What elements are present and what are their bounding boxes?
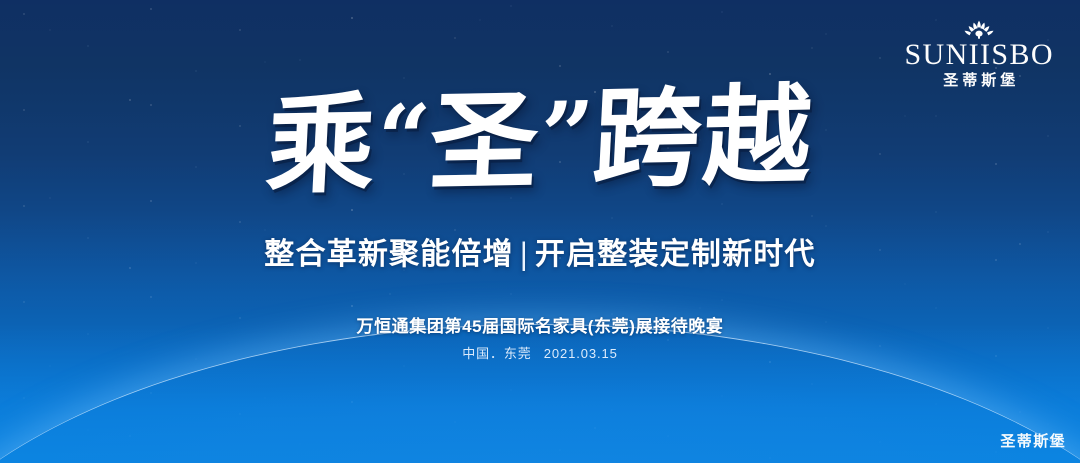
hero-subtitle: 整合革新聚能倍增|开启整装定制新时代: [0, 229, 1080, 273]
event-location: 中国．东莞: [462, 346, 532, 361]
hero-subtitle-left: 整合革新聚能倍增: [264, 238, 514, 271]
hero-subtitle-right: 开启整装定制新时代: [535, 238, 816, 271]
event-date: 2021.03.15: [544, 346, 618, 361]
hero-title-quote-open: “: [374, 84, 432, 193]
event-name: 万恒通集团第45届国际名家具(东莞)展接待晚宴: [0, 312, 1080, 337]
event-meta: 中国．东莞2021.03.15: [0, 343, 1080, 362]
brand-watermark: 圣蒂斯堡: [1000, 430, 1066, 451]
brand-watermark-text: 圣蒂斯堡: [1000, 433, 1066, 450]
event-banner: SUNIISBO 圣蒂斯堡 乘“圣”跨越 整合革新聚能倍增|开启整装定制新时代 …: [0, 0, 1080, 463]
hero-title: 乘“圣”跨越: [0, 74, 1080, 210]
hero-title-keyword: 圣: [427, 78, 544, 206]
event-name-text: 万恒通集团第45届国际名家具(东莞)展接待晚宴: [356, 317, 723, 336]
hero-title-char-2: 跨越: [590, 73, 817, 203]
hero-subtitle-separator: |: [520, 237, 529, 273]
lotus-flower-icon: [957, 19, 1001, 39]
hero-title-char-1: 乘: [264, 81, 381, 209]
brand-logo-wordmark: SUNIISBO: [904, 40, 1054, 70]
hero-title-quote-close: ”: [538, 81, 596, 190]
